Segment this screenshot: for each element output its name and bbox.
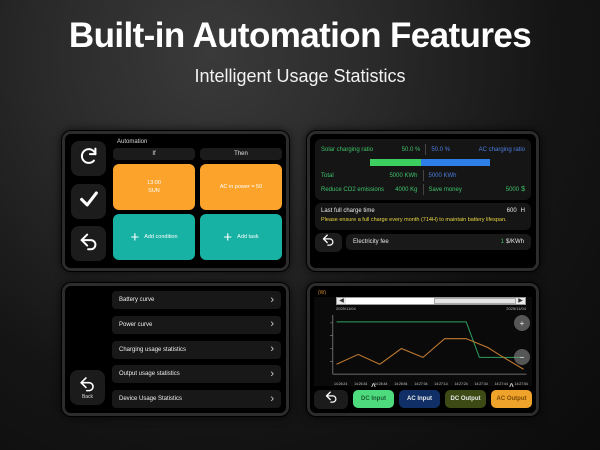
ac-ratio-label: AC charging ratio: [479, 147, 525, 153]
chevron-right-icon: ›: [270, 295, 274, 306]
x-tick: 14:27:04: [414, 382, 427, 386]
legend-chip-ac-output[interactable]: ^ AC Output: [491, 390, 532, 408]
menu-side-rail: Back: [70, 291, 108, 408]
menu-item-label: Battery curve: [119, 297, 154, 303]
last-charge-unit: H: [521, 208, 525, 214]
time-scrollbar[interactable]: ◀ ▶: [336, 297, 526, 305]
zoom-in-icon: +: [520, 319, 525, 328]
menu-item-label: Device Usage Statistics: [119, 396, 182, 402]
total-solar-value: 5000 KWh: [389, 173, 417, 179]
money-unit: $: [521, 186, 525, 193]
back-button[interactable]: [314, 390, 348, 409]
add-condition-button[interactable]: + Add condition: [113, 214, 195, 260]
statistics-device: Solar charging ratio 50.0 % 50.0 % AC ch…: [307, 131, 539, 271]
statistics-screen: Solar charging ratio 50.0 % 50.0 % AC ch…: [310, 134, 536, 268]
charging-ratio-block: Solar charging ratio 50.0 % 50.0 % AC ch…: [315, 139, 531, 200]
chevron-up-icon: ^: [509, 383, 514, 391]
menu-item-label: Power curve: [119, 322, 152, 328]
chart-plot: [314, 313, 532, 386]
back-icon: [78, 230, 100, 257]
chevron-right-icon: ›: [270, 344, 274, 355]
chevron-right-icon: ›: [270, 394, 274, 405]
check-icon: [78, 188, 100, 215]
task-card[interactable]: AC in power = 50: [200, 164, 282, 210]
automation-device: Automation If 13:00 SUN + Add condition: [62, 131, 289, 271]
page-title: Built-in Automation Features: [0, 18, 600, 55]
co2-half: Reduce CO2 emissions 4000 Kg: [321, 187, 418, 193]
legend-label: AC Input: [407, 396, 432, 402]
menu-device: Back Battery curve › Power curve › Charg…: [62, 283, 289, 416]
automation-title: Automation: [117, 139, 282, 145]
plus-icon: +: [223, 230, 232, 245]
column-header-if: If: [113, 148, 195, 160]
plus-icon: +: [130, 230, 139, 245]
bar-ac-segment: [421, 159, 490, 166]
statistics-bottom-bar: Electricity fee 1 $/KWh: [315, 233, 531, 252]
chart-screen: (W) ◀ ▶ 2025/11/04 2025/11/04: [310, 286, 536, 413]
series-line-ac-output: [337, 339, 524, 370]
divider: [425, 144, 426, 155]
y-axis-ticks: [330, 323, 333, 361]
scrollbar-thumb[interactable]: [434, 298, 516, 304]
x-tick: 14:27:34: [475, 382, 488, 386]
money-label: Save money: [429, 187, 462, 193]
condition-card[interactable]: 13:00 SUN: [113, 164, 195, 210]
automation-column-then: Then AC in power = 50 + Add task: [200, 148, 282, 264]
electricity-fee-value: 1: [501, 239, 504, 245]
chevron-right-icon: ›: [270, 319, 274, 330]
header: Built-in Automation Features Intelligent…: [0, 0, 600, 87]
total-solar-half: Total 5000 KWh: [321, 173, 418, 179]
x-tick: 14:27:24: [454, 382, 467, 386]
x-tick: 14:27:14: [434, 382, 447, 386]
automation-column-if: If 13:00 SUN + Add condition: [113, 148, 195, 264]
co2-label: Reduce CO2 emissions: [321, 187, 384, 193]
menu-item-power-curve[interactable]: Power curve ›: [112, 316, 281, 334]
legend-label: DC Output: [451, 396, 481, 402]
legend-chip-ac-input[interactable]: AC Input: [399, 390, 440, 408]
money-half: Save money 5000 $: [429, 186, 526, 193]
date-start-label: 2025/11/04: [336, 306, 356, 311]
menu-list: Battery curve › Power curve › Charging u…: [108, 291, 281, 408]
ratio-progress-bar: [321, 159, 525, 166]
total-row: Total 5000 KWh 5000 KWh: [321, 170, 525, 181]
total-label: Total: [321, 173, 334, 179]
chart-legend: ^ DC Input AC Input DC Output ^ AC Outpu…: [314, 389, 532, 409]
add-task-label: Add task: [237, 233, 258, 241]
column-header-then: Then: [200, 148, 282, 160]
chart-y-unit: (W): [318, 290, 532, 296]
menu-screen: Back Battery curve › Power curve › Charg…: [65, 286, 286, 413]
maintenance-warning: Please ensure a full charge every month …: [321, 217, 525, 225]
bar-pad: [321, 159, 370, 166]
refresh-icon: [78, 145, 100, 172]
last-charge-block: Last full charge time 600 H Please ensur…: [315, 203, 531, 230]
menu-item-battery-curve[interactable]: Battery curve ›: [112, 291, 281, 309]
ratio-row: Solar charging ratio 50.0 % 50.0 % AC ch…: [321, 144, 525, 155]
x-axis-tick-labels: 14:26:24 14:26:34 14:26:44 14:26:54 14:2…: [334, 382, 528, 386]
scroll-left-icon[interactable]: ◀: [337, 298, 346, 304]
zoom-out-button[interactable]: −: [514, 349, 530, 365]
back-button[interactable]: Back: [70, 370, 105, 405]
legend-label: AC Output: [497, 396, 527, 402]
back-button[interactable]: [71, 226, 106, 261]
add-condition-label: Add condition: [144, 233, 177, 241]
co2-money-row: Reduce CO2 emissions 4000 Kg Save money …: [321, 184, 525, 195]
zoom-out-icon: −: [520, 353, 525, 362]
electricity-fee-field[interactable]: Electricity fee 1 $/KWh: [346, 234, 531, 250]
panel-grid: Automation If 13:00 SUN + Add condition: [0, 128, 600, 428]
menu-item-charging-usage-statistics[interactable]: Charging usage statistics ›: [112, 341, 281, 359]
zoom-in-button[interactable]: +: [514, 315, 530, 331]
chart-area: ◀ ▶ 2025/11/04 2025/11/04: [314, 297, 532, 386]
back-icon: [324, 389, 339, 409]
co2-value: 4000 Kg: [395, 187, 417, 193]
legend-chip-dc-output[interactable]: DC Output: [445, 390, 486, 408]
last-charge-value: 600: [507, 208, 517, 214]
chevron-up-icon: ^: [371, 383, 376, 391]
solar-ratio-label: Solar charging ratio: [321, 147, 373, 153]
money-value: 5000: [506, 187, 519, 193]
total-ac-value: 5000 KWh: [429, 173, 457, 179]
date-range-row: 2025/11/04 2025/11/04: [336, 306, 526, 311]
x-tick: 14:27:54: [515, 382, 528, 386]
ac-ratio-value: 50.0 %: [431, 147, 450, 153]
refresh-button[interactable]: [71, 141, 106, 176]
automation-screen: Automation If 13:00 SUN + Add condition: [65, 134, 286, 268]
back-icon: [321, 232, 336, 252]
menu-item-output-usage-statistics[interactable]: Output usage statistics ›: [112, 365, 281, 383]
legend-label: DC Input: [361, 396, 386, 402]
condition-time: 13:00: [147, 179, 161, 187]
electricity-fee-label: Electricity fee: [353, 239, 389, 245]
scroll-right-icon[interactable]: ▶: [516, 298, 525, 304]
page-subtitle: Intelligent Usage Statistics: [0, 66, 600, 87]
automation-side-rail: [69, 138, 109, 264]
menu-item-device-usage-statistics[interactable]: Device Usage Statistics ›: [112, 390, 281, 408]
electricity-fee-unit: $/KWh: [506, 239, 524, 245]
last-charge-label: Last full charge time: [321, 208, 375, 214]
automation-body: Automation If 13:00 SUN + Add condition: [109, 138, 282, 264]
last-charge-row: Last full charge time 600 H: [321, 208, 525, 214]
chevron-right-icon: ›: [270, 369, 274, 380]
date-end-label: 2025/11/04: [506, 306, 526, 311]
legend-chip-dc-input[interactable]: ^ DC Input: [353, 390, 394, 408]
x-tick: 14:27:44: [495, 382, 508, 386]
solar-ratio-value: 50.0 %: [402, 147, 421, 153]
x-tick: 14:26:34: [354, 382, 367, 386]
x-tick: 14:26:24: [334, 382, 347, 386]
automation-columns: If 13:00 SUN + Add condition: [113, 148, 282, 264]
confirm-button[interactable]: [71, 184, 106, 219]
bar-solar-segment: [370, 159, 421, 166]
add-task-button[interactable]: + Add task: [200, 214, 282, 260]
divider: [423, 170, 424, 181]
task-label: AC in power = 50: [220, 183, 262, 191]
x-tick: 14:26:54: [394, 382, 407, 386]
condition-day: SUN: [147, 187, 161, 195]
menu-item-label: Output usage statistics: [119, 371, 180, 377]
back-button[interactable]: [315, 233, 342, 252]
scrollbar-track[interactable]: [346, 298, 516, 304]
total-ac-half: 5000 KWh: [429, 173, 526, 179]
divider: [423, 184, 424, 195]
back-label: Back: [82, 394, 93, 400]
chart-device: (W) ◀ ▶ 2025/11/04 2025/11/04: [307, 283, 539, 416]
bar-pad: [490, 159, 525, 166]
menu-item-label: Charging usage statistics: [119, 347, 186, 353]
back-icon: [78, 374, 97, 395]
